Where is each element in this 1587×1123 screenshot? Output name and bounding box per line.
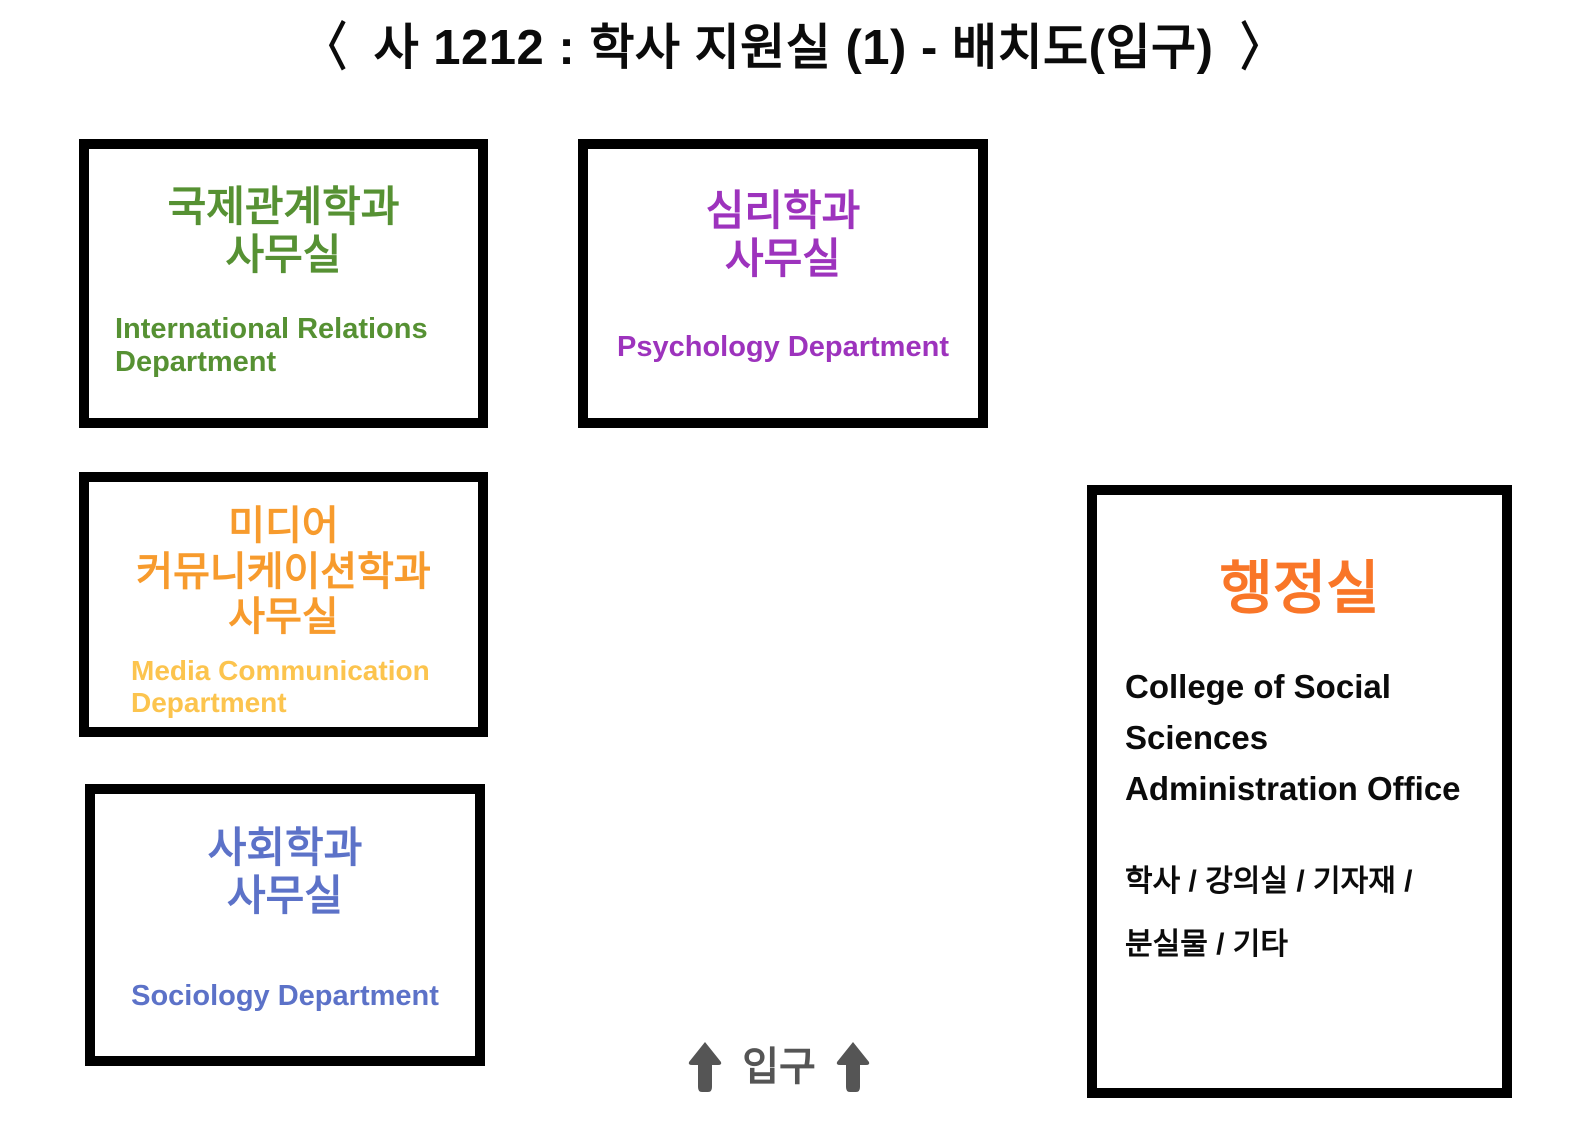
- room-box-sociology[interactable]: 사회학과 사무실 Sociology Department: [85, 784, 485, 1066]
- next-chevron-icon[interactable]: 〉: [1241, 22, 1283, 74]
- room-box-psychology[interactable]: 심리학과 사무실 Psychology Department: [578, 139, 988, 428]
- room-name-korean: 심리학과 사무실: [706, 187, 861, 283]
- arrow-up-icon: [688, 1041, 722, 1093]
- room-box-international-relations[interactable]: 국제관계학과 사무실 International Relations Depar…: [79, 139, 488, 428]
- entrance-marker: 입구: [664, 1032, 894, 1102]
- room-name-korean: 미디어 커뮤니케이션학과 사무실: [103, 504, 464, 641]
- room-name-english: Psychology Department: [617, 331, 949, 365]
- room-name-english: Sociology Department: [131, 980, 439, 1014]
- page-title-bar: 〈 사 1212 : 학사 지원실 (1) - 배치도(입구) 〉: [0, 22, 1587, 74]
- page-title: 사 1212 : 학사 지원실 (1) - 배치도(입구): [374, 24, 1214, 73]
- admin-office-services: 학사 / 강의실 / 기자재 / 분실물 / 기타: [1125, 850, 1474, 976]
- admin-office-services-line-1: 학사 / 강의실 / 기자재 /: [1125, 850, 1474, 913]
- entrance-label: 입구: [742, 1047, 816, 1087]
- arrow-up-icon: [836, 1041, 870, 1093]
- room-name-korean: 국제관계학과 사무실: [111, 183, 456, 279]
- admin-office-name-english: College of Social Sciences Administratio…: [1125, 661, 1474, 814]
- admin-office-services-line-2: 분실물 / 기타: [1125, 913, 1474, 976]
- room-box-administration-office[interactable]: 행정실 College of Social Sciences Administr…: [1087, 485, 1512, 1098]
- prev-chevron-icon[interactable]: 〈: [305, 22, 347, 74]
- room-box-media-communication[interactable]: 미디어 커뮤니케이션학과 사무실 Media Communication Dep…: [79, 472, 488, 737]
- room-name-korean: 사회학과 사무실: [208, 824, 363, 920]
- room-name-english: Media Communication Department: [103, 655, 464, 720]
- room-name-english: International Relations Department: [111, 313, 456, 380]
- admin-office-name-korean: 행정실: [1125, 557, 1474, 621]
